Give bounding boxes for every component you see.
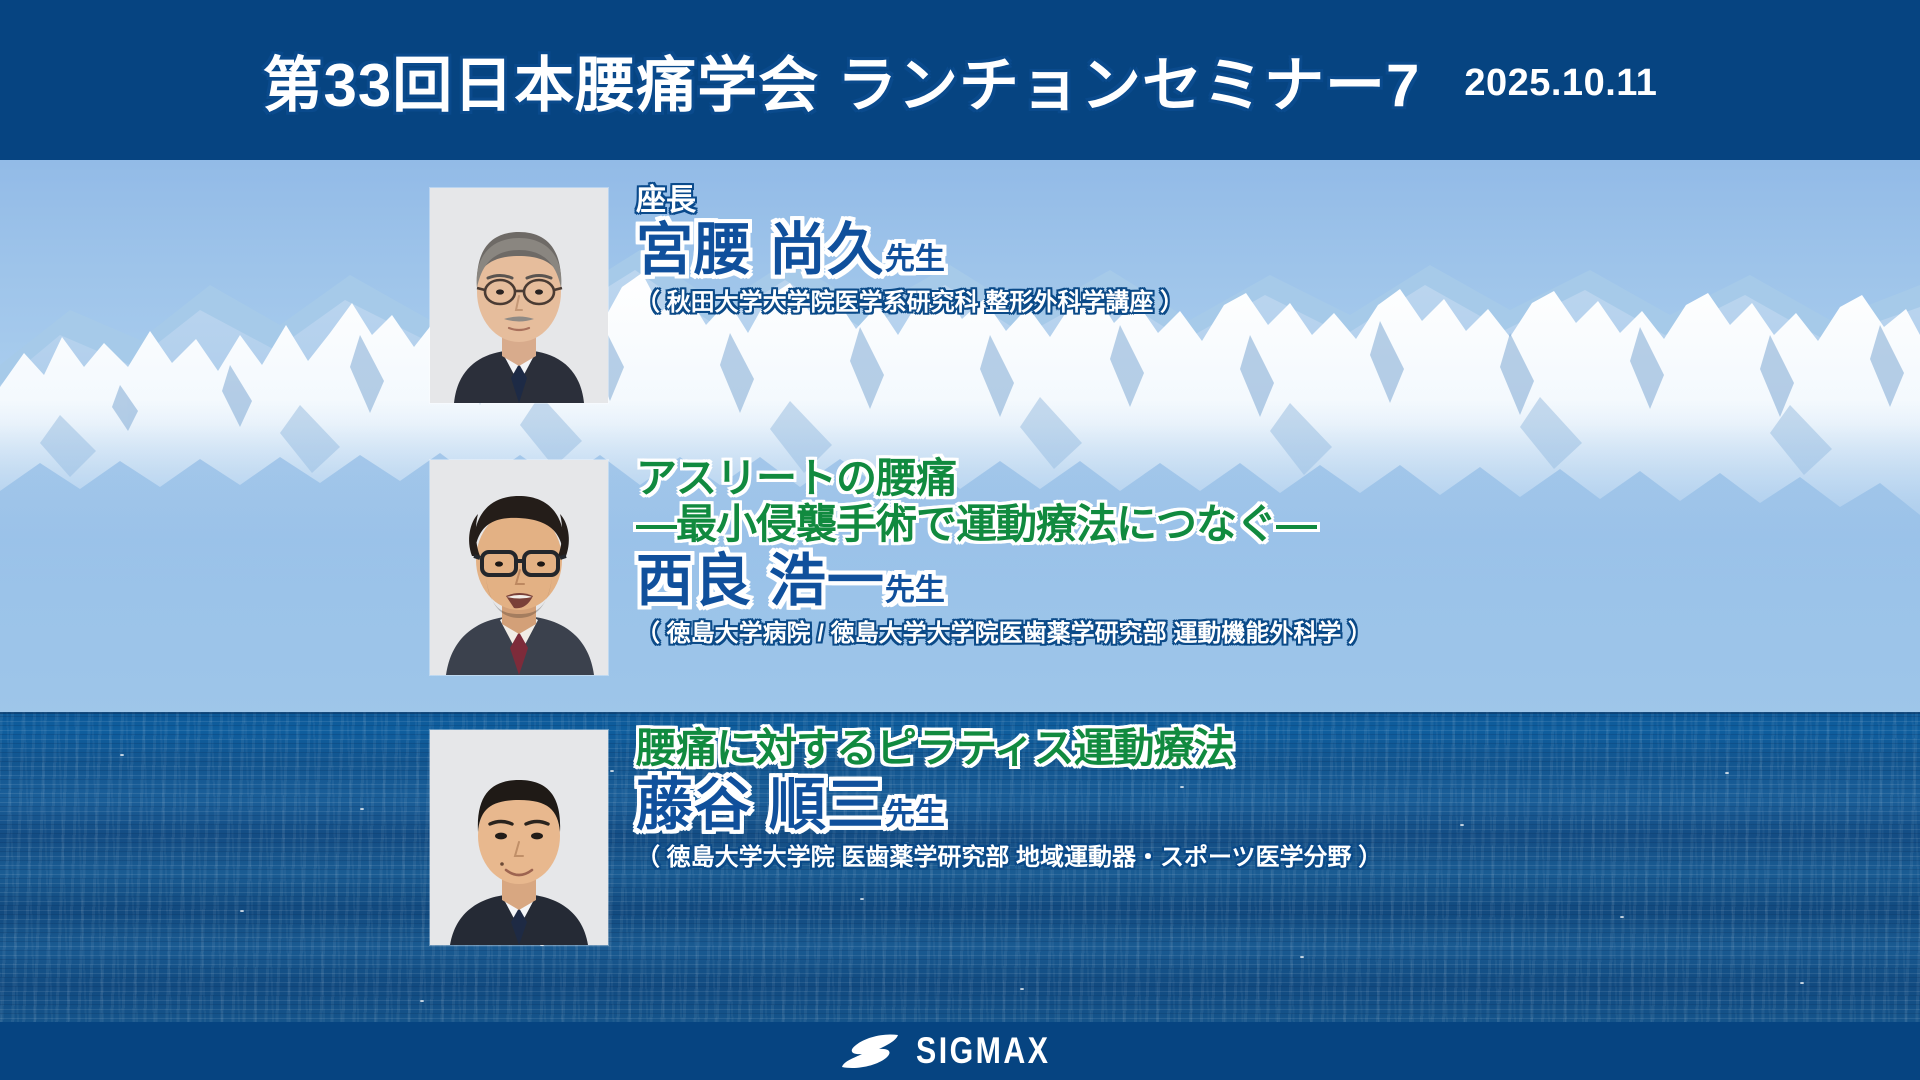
- sigmax-swoosh-icon: [840, 1031, 902, 1071]
- speaker-name-text: 西良 浩一: [636, 549, 885, 613]
- speaker-honorific: 先生: [885, 798, 945, 831]
- speaker-affiliation: （ 徳島大学病院 / 徳島大学大学院医歯薬学研究部 運動機能外科学 ）: [636, 620, 1372, 649]
- speaker-affiliation: （ 秋田大学大学院医学系研究科 整形外科学講座 ）: [636, 289, 1184, 318]
- speaker-name: 藤谷 順三先生: [636, 774, 1382, 838]
- speaker-entry-1: 座長 宮腰 尚久先生 （ 秋田大学大学院医学系研究科 整形外科学講座 ）: [430, 188, 1184, 403]
- speaker-name-text: 宮腰 尚久: [636, 218, 885, 282]
- talk-title-line2: ―最小侵襲手術で運動療法につなぐ―: [636, 502, 1372, 548]
- talk-title-line1: 腰痛に対するピラティス運動療法: [636, 726, 1382, 772]
- speaker-affiliation: （ 徳島大学大学院 医歯薬学研究部 地域運動器・スポーツ医学分野 ）: [636, 844, 1382, 873]
- sigmax-logo-text: SIGMAX: [916, 1030, 1050, 1072]
- speaker-role: 座長: [636, 184, 1184, 217]
- speaker-honorific: 先生: [885, 243, 945, 276]
- seminar-banner: 第33回日本腰痛学会 ランチョンセミナー7 2025.10.11: [0, 0, 1920, 1080]
- speaker-text-1: 座長 宮腰 尚久先生 （ 秋田大学大学院医学系研究科 整形外科学講座 ）: [636, 184, 1184, 318]
- speaker-entry-2: アスリートの腰痛 ―最小侵襲手術で運動療法につなぐ― 西良 浩一先生 （ 徳島大…: [430, 460, 1372, 675]
- speaker-text-3: 腰痛に対するピラティス運動療法 藤谷 順三先生 （ 徳島大学大学院 医歯薬学研究…: [636, 726, 1382, 873]
- footer-bar: SIGMAX: [0, 1022, 1920, 1080]
- speaker-honorific: 先生: [885, 574, 945, 607]
- header-bar: 第33回日本腰痛学会 ランチョンセミナー7 2025.10.11: [0, 0, 1920, 160]
- avatar: [430, 188, 608, 403]
- speaker-name: 西良 浩一先生: [636, 550, 1372, 614]
- speaker-entry-3: 腰痛に対するピラティス運動療法 藤谷 順三先生 （ 徳島大学大学院 医歯薬学研究…: [430, 730, 1382, 945]
- speaker-text-2: アスリートの腰痛 ―最小侵襲手術で運動療法につなぐ― 西良 浩一先生 （ 徳島大…: [636, 456, 1372, 648]
- event-date: 2025.10.11: [1464, 62, 1657, 105]
- page-title: 第33回日本腰痛学会 ランチョンセミナー7: [263, 37, 1421, 124]
- avatar: [430, 460, 608, 675]
- speakers-list: 座長 宮腰 尚久先生 （ 秋田大学大学院医学系研究科 整形外科学講座 ）: [0, 160, 1920, 1022]
- speaker-name-text: 藤谷 順三: [636, 773, 885, 837]
- speaker-name: 宮腰 尚久先生: [636, 219, 1184, 283]
- talk-title-line1: アスリートの腰痛: [636, 456, 1372, 502]
- avatar: [430, 730, 608, 945]
